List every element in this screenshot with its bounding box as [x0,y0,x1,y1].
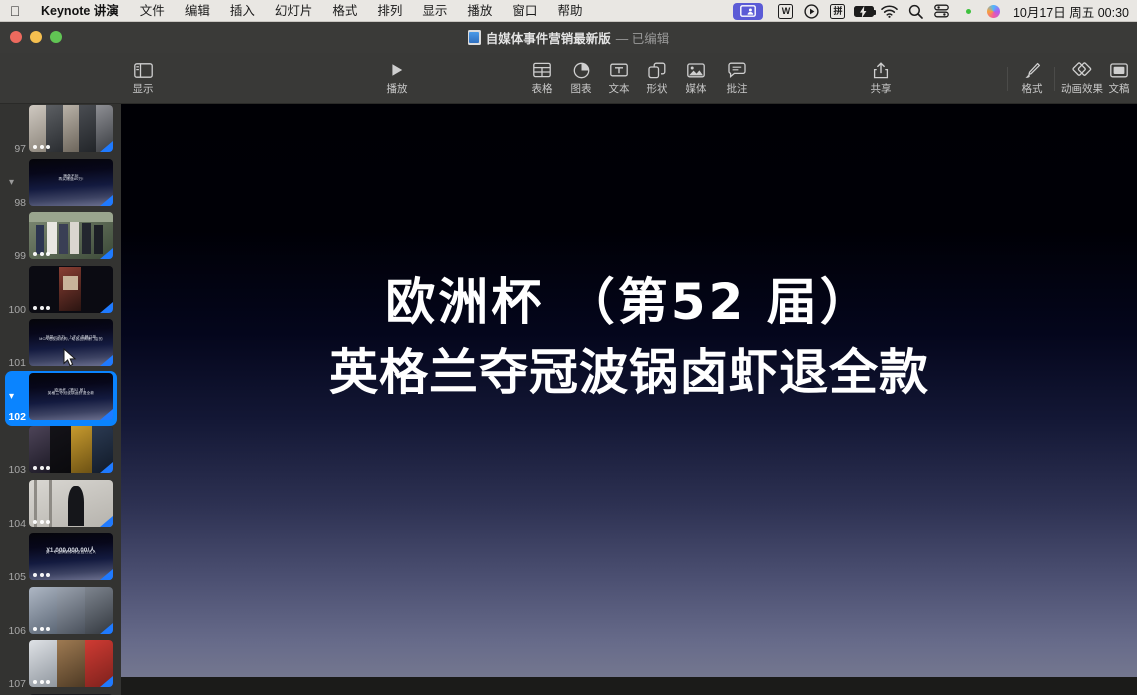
document-file-icon [468,30,481,45]
play-icon [389,58,405,82]
slide-thumbnail[interactable] [29,640,113,687]
slide-build-indicator [33,306,50,310]
slide-thumbnail[interactable]: 欧洲杯（第52 届）英格兰夺冠波锅卤虾退全款 [29,373,113,420]
slide-thumbnail-item-107[interactable]: 107 [0,640,121,694]
slide-thumbnail[interactable] [29,587,113,634]
comment-button[interactable]: 批注 [714,58,760,95]
menu-item-edit[interactable]: 编辑 [175,0,220,22]
brush-icon [1024,58,1041,82]
slide-thumbnail[interactable] [29,266,113,313]
slide-transition-indicator [100,569,113,580]
siri-icon[interactable] [981,0,1007,22]
slide-thumbnail-item-99[interactable]: 99 [0,212,121,266]
menu-app-name[interactable]: Keynote 讲演 [30,0,130,22]
control-center-icon[interactable] [929,0,955,22]
share-button-label: 共享 [871,84,892,95]
slide-text-block[interactable]: 欧洲杯 （第52 届） 英格兰夺冠波锅卤虾退全款 [121,272,1137,403]
slide-thumbnail-item-104[interactable]: 104 [0,480,121,534]
slide-build-indicator [33,680,50,684]
chart-icon [573,58,590,82]
slide-thumbnail-text: 英格兰夺冠波锅卤虾退全款 [29,391,113,396]
format-button-label: 格式 [1022,84,1043,95]
slide-title-line2: 英格兰夺冠波锅卤虾退全款 [121,343,1137,403]
menu-bar-clock[interactable]: 10月17日 周五 00:30 [1007,2,1129,21]
slide-thumbnail-text: MCN短视频机构，助各品牌爆门店的 [29,337,113,342]
document-button-label: 文稿 [1109,84,1130,95]
play-button[interactable]: 播放 [374,58,420,95]
menu-item-play[interactable]: 播放 [457,0,502,22]
sidebar-icon [134,58,153,82]
window-title-bar: 自媒体事件营销最新版 — 已编辑 [0,22,1137,53]
slide-number: 100 [2,304,26,316]
slide-thumbnail-text: 再买赌盘80万! [29,177,113,182]
slide-number: 98 [2,197,26,209]
slide-number: 106 [2,625,26,637]
slide-build-indicator [33,627,50,631]
chevron-down-icon[interactable]: ▾ [9,392,14,402]
shape-button-label: 形状 [647,84,668,95]
slide-transition-indicator [100,248,113,259]
slide-number: 104 [2,518,26,530]
menu-item-insert[interactable]: 插入 [220,0,265,22]
slide-thumbnail[interactable] [29,212,113,259]
spotlight-search-icon[interactable] [903,0,929,22]
slide-thumbnail-item-97[interactable]: 97 [0,105,121,159]
slide-build-indicator [33,466,50,470]
slide-thumbnail[interactable]: ¥1,000,000.00/人买一千金牌奶茶博主百万达人 [29,533,113,580]
chevron-down-icon[interactable]: ▾ [9,178,14,188]
slide-number: 97 [2,143,26,155]
screen-sharing-icon[interactable] [733,3,763,20]
media-icon [687,58,705,82]
document-icon [1110,58,1128,82]
slide-number: 105 [2,571,26,583]
menu-item-file[interactable]: 文件 [130,0,175,22]
menu-item-arrange[interactable]: 排列 [367,0,412,22]
slide-transition-indicator [100,302,113,313]
slide-thumbnail-item-101[interactable]: 101销量一千万，上千个金牌订单MCN短视频机构，助各品牌爆门店的 [0,319,121,373]
menu-item-window[interactable]: 窗口 [502,0,547,22]
slide-thumbnail-item-102[interactable]: ▾102欧洲杯（第52 届）英格兰夺冠波锅卤虾退全款 [0,373,121,427]
slide-number: 102 [2,411,26,423]
slide-transition-indicator [100,516,113,527]
document-title[interactable]: 自媒体事件营销最新版 [486,28,611,47]
canvas-bottom-bar [121,677,1137,695]
document-title-group: 自媒体事件营销最新版 — 已编辑 [0,22,1137,53]
document-button[interactable]: 文稿 [1096,58,1137,95]
share-icon [873,58,889,82]
menu-item-help[interactable]: 帮助 [547,0,592,22]
slide-transition-indicator [100,676,113,687]
menu-item-format[interactable]: 格式 [322,0,367,22]
view-button[interactable]: 显示 [120,58,166,95]
slide-transition-indicator [100,462,113,473]
chart-button-label: 图表 [571,84,592,95]
notification-dot-icon [955,0,981,22]
media-button[interactable]: 媒体 [673,58,719,95]
play-button-label: 播放 [387,84,408,95]
slide-number: 99 [2,250,26,262]
keynote-window: 自媒体事件营销最新版 — 已编辑 显示 [0,22,1137,695]
slide-transition-indicator [100,623,113,634]
comment-icon [728,58,746,82]
apple-logo-icon[interactable]:  [0,0,30,22]
text-icon [610,58,628,82]
slide-thumbnail[interactable] [29,426,113,473]
slide-transition-indicator [100,141,113,152]
animate-icon [1072,58,1092,82]
slide-transition-indicator [100,355,113,366]
table-button-label: 表格 [532,84,553,95]
format-button[interactable]: 格式 [1009,58,1055,95]
slide-thumbnail-item-103[interactable]: 103 [0,426,121,480]
table-icon [533,58,551,82]
slide-number: 103 [2,464,26,476]
slide-navigator[interactable]: 97 ▾98赌盘不玩再买赌盘80万!99 100 101销量一千万，上千个金牌订… [0,104,121,695]
slide-number: 101 [2,357,26,369]
menu-item-view[interactable]: 显示 [412,0,457,22]
screen:  Keynote 讲演 文件 编辑 插入 幻灯片 格式 排列 显示 播放 窗口… [0,0,1137,695]
input-method-pinyin-icon[interactable]: 拼 [825,0,851,22]
wifi-icon[interactable] [877,0,903,22]
media-button-label: 媒体 [686,84,707,95]
menu-bar-status-area: W 拼 [733,0,1137,22]
view-button-label: 显示 [133,84,154,95]
slide-canvas-area[interactable]: 欧洲杯 （第52 届） 英格兰夺冠波锅卤虾退全款 [121,104,1137,695]
share-button[interactable]: 共享 [858,58,904,95]
slide-thumbnail-item-105[interactable]: 105¥1,000,000.00/人买一千金牌奶茶博主百万达人 [0,533,121,587]
slide-thumbnail-item-98[interactable]: ▾98赌盘不玩再买赌盘80万! [0,159,121,213]
document-edited-status: — 已编辑 [616,28,669,47]
slide-thumbnail[interactable]: 销量一千万，上千个金牌订单MCN短视频机构，助各品牌爆门店的 [29,319,113,366]
slide-build-indicator [33,573,50,577]
slide-title-line1: 欧洲杯 （第52 届） [121,272,1137,333]
battery-charging-icon[interactable] [851,0,877,22]
slide-transition-indicator [100,195,113,206]
slide-thumbnail[interactable]: 赌盘不玩再买赌盘80万! [29,159,113,206]
menu-bar-left:  Keynote 讲演 文件 编辑 插入 幻灯片 格式 排列 显示 播放 窗口… [0,0,592,22]
wechat-work-icon[interactable]: W [773,0,799,22]
keynote-toolbar: 显示 播放 表格 [0,53,1137,104]
current-slide[interactable]: 欧洲杯 （第52 届） 英格兰夺冠波锅卤虾退全款 [121,104,1137,677]
slide-build-indicator [33,145,50,149]
text-button-label: 文本 [609,84,630,95]
macos-menu-bar:  Keynote 讲演 文件 编辑 插入 幻灯片 格式 排列 显示 播放 窗口… [0,0,1137,22]
slide-build-indicator [33,252,50,256]
slide-thumbnail-item-100[interactable]: 100 [0,266,121,320]
comment-button-label: 批注 [727,84,748,95]
menu-item-slide[interactable]: 幻灯片 [265,0,323,22]
slide-transition-indicator [100,409,113,420]
slide-thumbnail[interactable] [29,105,113,152]
slide-thumbnail-item-106[interactable]: 106 [0,587,121,641]
media-play-icon[interactable] [799,0,825,22]
slide-build-indicator [33,520,50,524]
shape-icon [648,58,666,82]
slide-thumbnail[interactable] [29,480,113,527]
slide-thumbnail-text: 买一千金牌奶茶博主百万达人 [29,550,113,555]
slide-number: 107 [2,678,26,690]
